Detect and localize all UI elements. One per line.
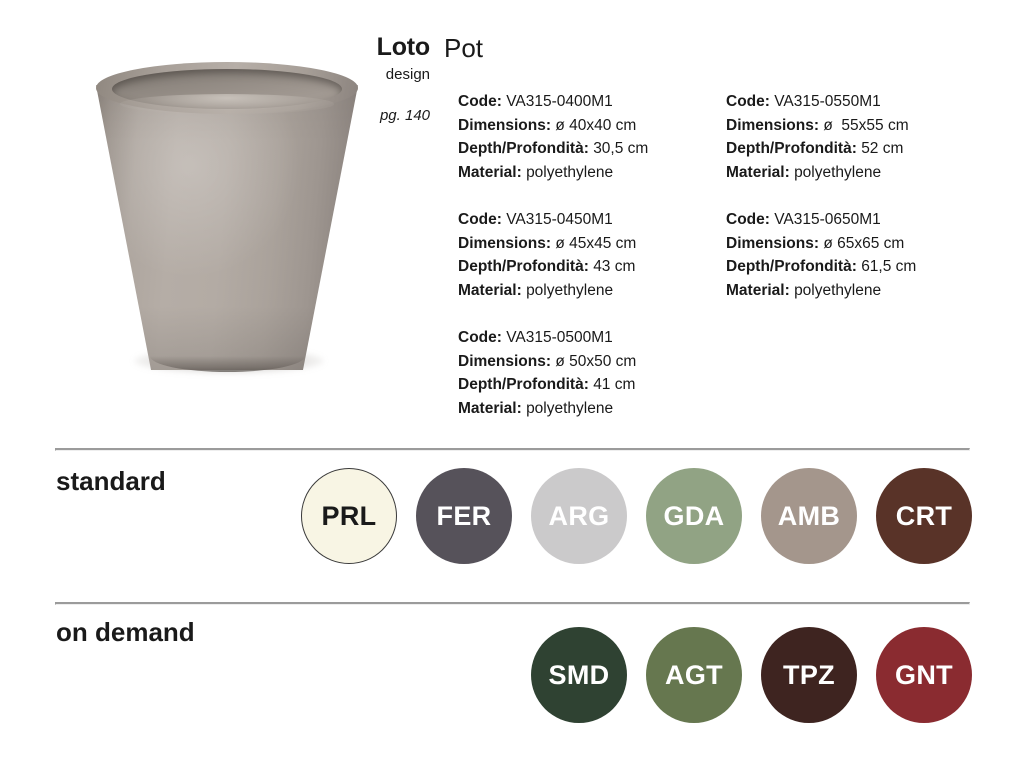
spec-code-label: Code: bbox=[458, 329, 502, 346]
spec-block: Code: VA315-0450M1 Dimensions: ø 45x45 c… bbox=[458, 208, 726, 302]
spec-material-label: Material: bbox=[458, 282, 522, 299]
spec-code-value: VA315-0400M1 bbox=[506, 93, 613, 110]
spec-material-line: Material: polyethylene bbox=[458, 161, 726, 185]
color-swatch-label: CRT bbox=[896, 503, 952, 530]
spec-code-value: VA315-0450M1 bbox=[506, 211, 613, 228]
spec-dimensions-line: Dimensions: ø 50x50 cm bbox=[458, 350, 726, 374]
color-swatch-label: AGT bbox=[665, 662, 723, 689]
standard-swatch-row: PRL FER ARG GDA AMB CRT bbox=[301, 468, 972, 564]
brand-name: Loto bbox=[352, 34, 430, 60]
spec-depth-value: 61,5 cm bbox=[861, 258, 916, 275]
spec-block: Code: VA315-0400M1 Dimensions: ø 40x40 c… bbox=[458, 90, 726, 184]
spec-material-line: Material: polyethylene bbox=[726, 279, 994, 303]
color-swatch-fer[interactable]: FER bbox=[416, 468, 512, 564]
spec-code-line: Code: VA315-0400M1 bbox=[458, 90, 726, 114]
color-swatch-label: GDA bbox=[664, 503, 725, 530]
spec-material-value: polyethylene bbox=[794, 282, 881, 299]
spec-block: Code: VA315-0500M1 Dimensions: ø 50x50 c… bbox=[458, 326, 726, 420]
color-swatch-gda[interactable]: GDA bbox=[646, 468, 742, 564]
color-swatch-agt[interactable]: AGT bbox=[646, 627, 742, 723]
pot-inner-highlight bbox=[120, 94, 334, 114]
spec-depth-label: Depth/Profondità: bbox=[458, 258, 589, 275]
spec-depth-value: 43 cm bbox=[593, 258, 635, 275]
spec-code-label: Code: bbox=[726, 93, 770, 110]
spec-dimensions-line: Dimensions: ø 55x55 cm bbox=[726, 114, 994, 138]
spec-dimensions-line: Dimensions: ø 40x40 cm bbox=[458, 114, 726, 138]
color-swatch-prl[interactable]: PRL bbox=[301, 468, 397, 564]
spec-dimensions-value: ø 50x50 cm bbox=[555, 353, 636, 370]
spec-depth-label: Depth/Profondità: bbox=[458, 140, 589, 157]
spec-block: Code: VA315-0650M1 Dimensions: ø 65x65 c… bbox=[726, 208, 994, 302]
spec-material-value: polyethylene bbox=[526, 164, 613, 181]
spec-depth-value: 41 cm bbox=[593, 376, 635, 393]
spec-depth-line: Depth/Profondità: 61,5 cm bbox=[726, 255, 994, 279]
spec-code-line: Code: VA315-0550M1 bbox=[726, 90, 994, 114]
page-reference: pg. 140 bbox=[352, 107, 430, 124]
color-swatch-tpz[interactable]: TPZ bbox=[761, 627, 857, 723]
ondemand-section-divider bbox=[55, 602, 970, 605]
designer-label: design bbox=[352, 66, 430, 83]
color-swatch-arg[interactable]: ARG bbox=[531, 468, 627, 564]
spec-code-line: Code: VA315-0450M1 bbox=[458, 208, 726, 232]
spec-code-value: VA315-0500M1 bbox=[506, 329, 613, 346]
color-swatch-amb[interactable]: AMB bbox=[761, 468, 857, 564]
spec-material-line: Material: polyethylene bbox=[458, 279, 726, 303]
color-swatch-crt[interactable]: CRT bbox=[876, 468, 972, 564]
spec-material-label: Material: bbox=[726, 282, 790, 299]
spec-depth-label: Depth/Profondità: bbox=[726, 258, 857, 275]
spec-material-value: polyethylene bbox=[794, 164, 881, 181]
spec-material-value: polyethylene bbox=[526, 400, 613, 417]
specification-grid: Code: VA315-0400M1 Dimensions: ø 40x40 c… bbox=[458, 90, 1006, 421]
spec-code-label: Code: bbox=[726, 211, 770, 228]
spec-code-label: Code: bbox=[458, 93, 502, 110]
spec-dimensions-label: Dimensions: bbox=[726, 235, 819, 252]
ondemand-section-label: on demand bbox=[56, 617, 195, 648]
color-swatch-label: FER bbox=[437, 503, 492, 530]
spec-depth-label: Depth/Profondità: bbox=[458, 376, 589, 393]
spec-depth-label: Depth/Profondità: bbox=[726, 140, 857, 157]
product-sheet-page: Loto design pg. 140 Pot Code: VA315-0400… bbox=[0, 0, 1024, 768]
spec-code-line: Code: VA315-0500M1 bbox=[458, 326, 726, 350]
color-swatch-gnt[interactable]: GNT bbox=[876, 627, 972, 723]
spec-code-line: Code: VA315-0650M1 bbox=[726, 208, 994, 232]
spec-dimensions-label: Dimensions: bbox=[458, 117, 551, 134]
spec-dimensions-value: ø 40x40 cm bbox=[555, 117, 636, 134]
pot-illustration bbox=[86, 54, 366, 384]
spec-block: Code: VA315-0550M1 Dimensions: ø 55x55 c… bbox=[726, 90, 994, 184]
brand-column: Loto design pg. 140 bbox=[352, 34, 444, 124]
color-swatch-smd[interactable]: SMD bbox=[531, 627, 627, 723]
spec-code-value: VA315-0650M1 bbox=[774, 211, 881, 228]
ondemand-swatch-row: SMD AGT TPZ GNT bbox=[531, 627, 972, 723]
spec-depth-line: Depth/Profondità: 30,5 cm bbox=[458, 137, 726, 161]
spec-code-value: VA315-0550M1 bbox=[774, 93, 881, 110]
spec-material-label: Material: bbox=[458, 164, 522, 181]
product-type: Pot bbox=[444, 34, 483, 62]
color-swatch-label: PRL bbox=[322, 503, 377, 530]
spec-dimensions-line: Dimensions: ø 45x45 cm bbox=[458, 232, 726, 256]
spec-material-line: Material: polyethylene bbox=[458, 397, 726, 421]
spec-dimensions-value: ø 65x65 cm bbox=[823, 235, 904, 252]
spec-depth-line: Depth/Profondità: 43 cm bbox=[458, 255, 726, 279]
product-image bbox=[70, 44, 382, 404]
spec-material-label: Material: bbox=[726, 164, 790, 181]
color-swatch-label: GNT bbox=[895, 662, 953, 689]
color-swatch-label: AMB bbox=[778, 503, 840, 530]
spec-dimensions-value: ø 45x45 cm bbox=[555, 235, 636, 252]
standard-section-divider bbox=[55, 448, 970, 451]
color-swatch-label: SMD bbox=[549, 662, 610, 689]
spec-dimensions-line: Dimensions: ø 65x65 cm bbox=[726, 232, 994, 256]
spec-dimensions-label: Dimensions: bbox=[458, 353, 551, 370]
color-swatch-label: TPZ bbox=[783, 662, 835, 689]
spec-material-value: polyethylene bbox=[526, 282, 613, 299]
spec-code-label: Code: bbox=[458, 211, 502, 228]
spec-material-line: Material: polyethylene bbox=[726, 161, 994, 185]
spec-dimensions-value: ø 55x55 cm bbox=[823, 117, 908, 134]
spec-depth-line: Depth/Profondità: 41 cm bbox=[458, 373, 726, 397]
spec-depth-value: 30,5 cm bbox=[593, 140, 648, 157]
spec-dimensions-label: Dimensions: bbox=[458, 235, 551, 252]
spec-depth-line: Depth/Profondità: 52 cm bbox=[726, 137, 994, 161]
standard-section-label: standard bbox=[56, 466, 166, 497]
spec-dimensions-label: Dimensions: bbox=[726, 117, 819, 134]
color-swatch-label: ARG bbox=[549, 503, 610, 530]
spec-depth-value: 52 cm bbox=[861, 140, 903, 157]
pot-body-highlight bbox=[96, 78, 358, 370]
spec-material-label: Material: bbox=[458, 400, 522, 417]
